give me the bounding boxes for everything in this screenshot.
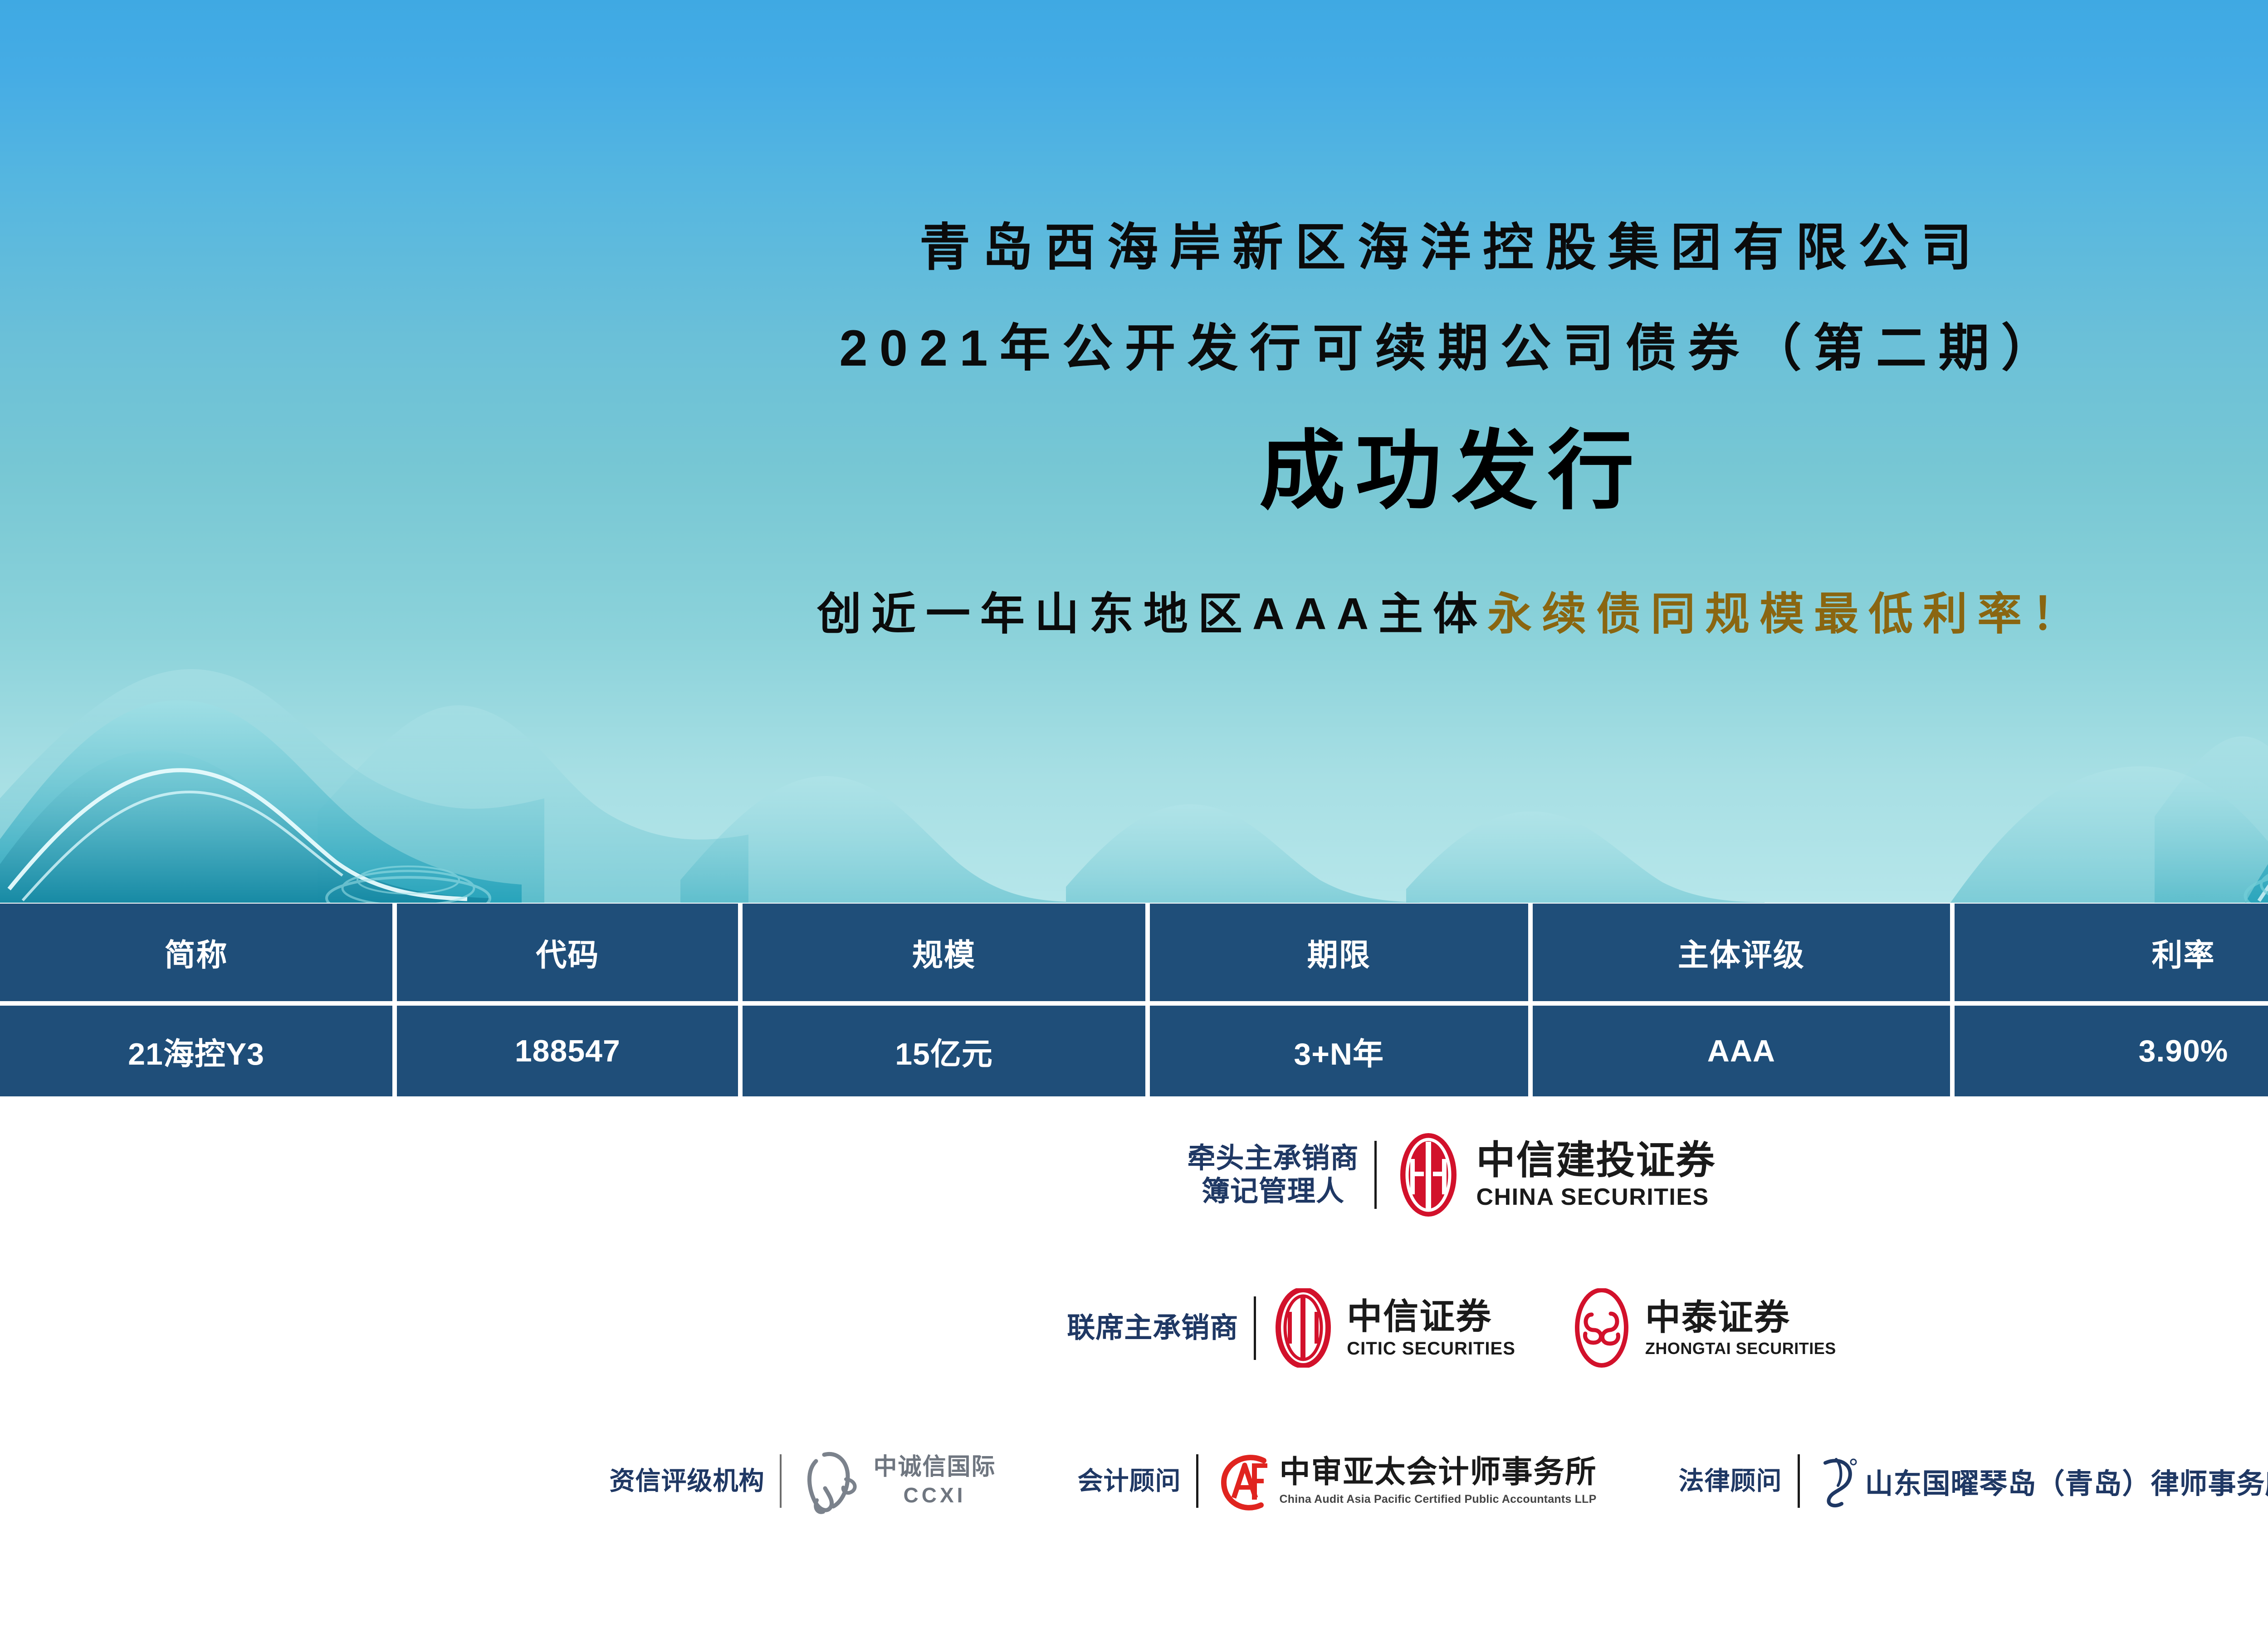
partner-row-lead-underwriter: 牵头主承销商 簿记管理人 中信建投证券 CHINA SECURITIES bbox=[0, 1132, 2268, 1218]
brand-china-audit-asia-pacific: 中审亚太会计师事务所 China Audit Asia Pacific Cert… bbox=[1214, 1447, 1597, 1515]
claim-black-part: 创近一年山东地区AAA主体 bbox=[817, 589, 1487, 639]
partner-row-joint-underwriters: 联席主承销商 中信证券 CITIC SECURITIES bbox=[0, 1288, 2268, 1368]
table-cell-abbr: 21海控Y3 bbox=[0, 1006, 392, 1096]
china-audit-en: China Audit Asia Pacific Certified Publi… bbox=[1279, 1493, 1596, 1506]
bond-summary-table: 简称 代码 规模 期限 主体评级 利率 认购倍数 21海控Y3 188547 1… bbox=[0, 904, 2268, 1096]
divider-line bbox=[1374, 1141, 1377, 1209]
ccxi-en: CCXI bbox=[904, 1483, 966, 1507]
china-securities-en: CHINA SECURITIES bbox=[1476, 1185, 1709, 1209]
table-header-cell-rating: 主体评级 bbox=[1533, 904, 1950, 1001]
table-cell-coupon: 3.90% bbox=[1955, 1006, 2268, 1096]
table-header-cell-coupon: 利率 bbox=[1955, 904, 2268, 1001]
citic-securities-cn: 中信证券 bbox=[1347, 1299, 1492, 1334]
table-cell-size: 15亿元 bbox=[743, 1006, 1145, 1096]
headline-issue-name: 2021年公开发行可续期公司债券（第二期） bbox=[0, 323, 2268, 374]
citic-securities-seal-icon bbox=[1271, 1288, 1335, 1368]
ccxi-cn: 中诚信国际 bbox=[873, 1455, 996, 1480]
lead-underwriter-label-line2: 簿记管理人 bbox=[1187, 1175, 1359, 1208]
poster-root: 海控集团 OCEAN HOLDINGS GROUP 青岛西海岸新区海洋控股集团有… bbox=[0, 0, 2268, 1633]
lead-underwriter-label-line1: 牵头主承销商 bbox=[1187, 1142, 1359, 1175]
table-cell-rating: AAA bbox=[1533, 1006, 1950, 1096]
brand-ccxi: 中诚信国际 CCXI bbox=[797, 1445, 996, 1517]
table-header-cell-tenor: 期限 bbox=[1150, 904, 1528, 1001]
partners-section: 牵头主承销商 簿记管理人 中信建投证券 CHINA SECURITIES bbox=[0, 1098, 2268, 1633]
table-header-row: 简称 代码 规模 期限 主体评级 利率 认购倍数 bbox=[0, 904, 2268, 1001]
divider-line bbox=[1254, 1296, 1256, 1360]
rating-agency-label: 资信评级机构 bbox=[609, 1466, 764, 1496]
zhongtai-securities-cn: 中泰证券 bbox=[1645, 1300, 1790, 1335]
china-securities-cn: 中信建投证券 bbox=[1476, 1141, 1716, 1180]
table-header-cell-abbr: 简称 bbox=[0, 904, 392, 1001]
partner-row-advisors: 资信评级机构 中诚信国际 CCXI 会计顾问 bbox=[0, 1445, 2268, 1517]
table-header-cell-size: 规模 bbox=[743, 904, 1145, 1001]
zhongtai-securities-seal-icon bbox=[1570, 1288, 1633, 1368]
table-cell-code: 188547 bbox=[397, 1006, 738, 1096]
headline-success: 成功发行 bbox=[0, 428, 2268, 514]
af-monogram-icon bbox=[1214, 1447, 1273, 1515]
divider-line bbox=[1798, 1454, 1800, 1508]
china-audit-cn: 中审亚太会计师事务所 bbox=[1279, 1457, 1597, 1487]
headline-company-name: 青岛西海岸新区海洋控股集团有限公司 bbox=[0, 222, 2268, 273]
joint-underwriter-label: 联席主承销商 bbox=[1067, 1311, 1238, 1345]
headline-claim: 创近一年山东地区AAA主体永续债同规模最低利率！ bbox=[0, 592, 2268, 636]
claim-gold-part: 永续债同规模最低利率！ bbox=[1487, 589, 2086, 639]
zhongtai-securities-en: ZHONGTAI SECURITIES bbox=[1645, 1340, 1836, 1357]
brand-china-securities: 中信建投证券 CHINA SECURITIES bbox=[1392, 1132, 1716, 1218]
citic-securities-en: CITIC SECURITIES bbox=[1347, 1340, 1515, 1358]
table-header-cell-code: 代码 bbox=[397, 904, 738, 1001]
headline-group: 青岛西海岸新区海洋控股集团有限公司 2021年公开发行可续期公司债券（第二期） … bbox=[0, 222, 2268, 636]
lead-underwriter-label: 牵头主承销商 簿记管理人 bbox=[1187, 1142, 1359, 1208]
guoyao-law-mark-icon bbox=[1815, 1454, 1859, 1508]
hero-banner: 海控集团 OCEAN HOLDINGS GROUP 青岛西海岸新区海洋控股集团有… bbox=[0, 0, 2268, 903]
brand-shandong-guoyao-qindao: 山东国曜琴岛（青岛）律师事务所 bbox=[1815, 1454, 2268, 1508]
divider-line bbox=[1196, 1454, 1198, 1508]
legal-advisor-label: 法律顾问 bbox=[1679, 1466, 1782, 1496]
brand-citic-securities: 中信证券 CITIC SECURITIES bbox=[1271, 1288, 1515, 1368]
table-cell-tenor: 3+N年 bbox=[1150, 1006, 1528, 1096]
guoyao-law-cn: 山东国曜琴岛（青岛）律师事务所 bbox=[1865, 1461, 2268, 1501]
accounting-advisor-label: 会计顾问 bbox=[1077, 1466, 1181, 1496]
ccxi-elephant-icon bbox=[797, 1445, 865, 1517]
table-data-row: 21海控Y3 188547 15亿元 3+N年 AAA 3.90% 2.22倍 bbox=[0, 1006, 2268, 1096]
divider-line bbox=[780, 1454, 782, 1508]
brand-zhongtai-securities: 中泰证券 ZHONGTAI SECURITIES bbox=[1570, 1288, 1836, 1368]
china-securities-seal-icon bbox=[1392, 1132, 1465, 1218]
